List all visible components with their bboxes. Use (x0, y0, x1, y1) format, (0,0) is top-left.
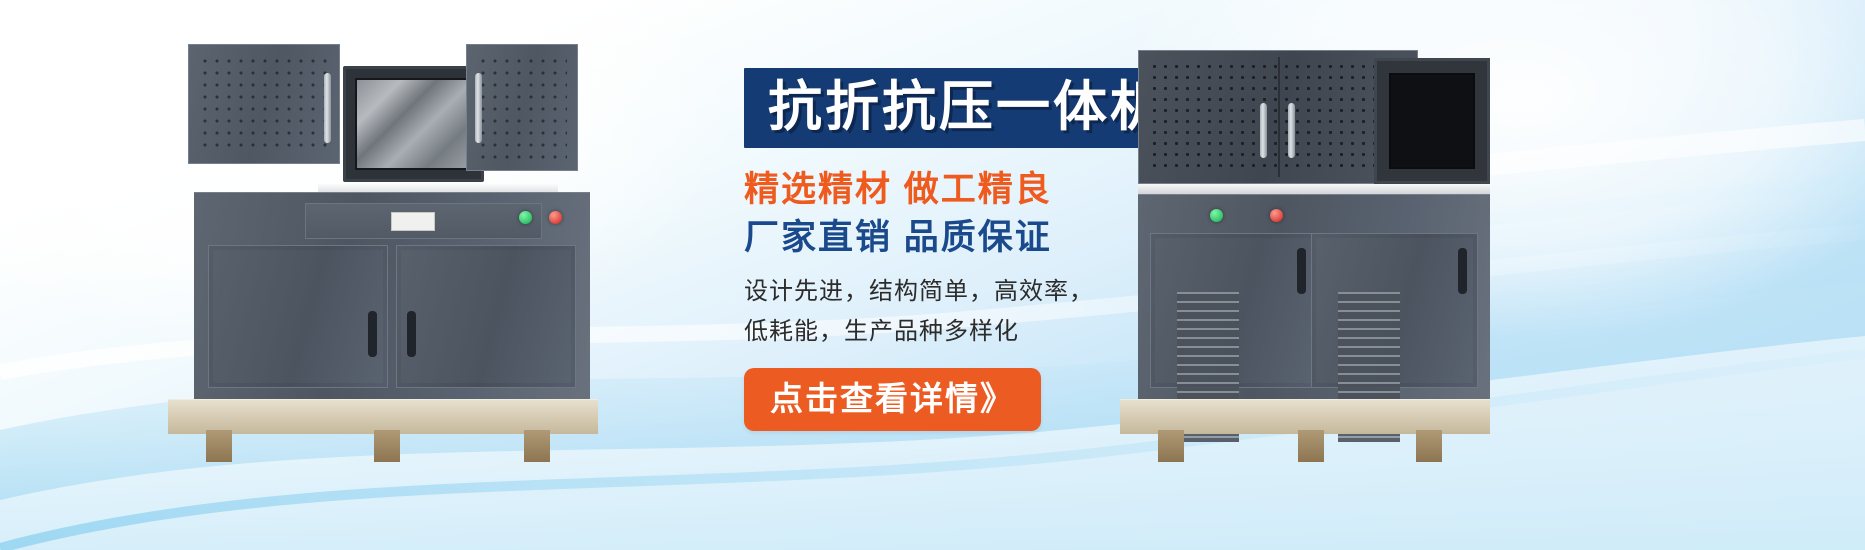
pallet-leg (1298, 430, 1324, 462)
left-perforated-cabinet-door (188, 44, 340, 164)
wooden-pallet (1120, 399, 1490, 434)
door-handle-icon (368, 311, 377, 357)
monitor-screen (355, 78, 472, 170)
right-perforated-cabinet-door (466, 44, 578, 171)
page-title: 抗折抗压一体机 (768, 77, 1167, 137)
cabinet-handle-icon (324, 73, 331, 143)
perforation-pattern (477, 55, 567, 160)
cabinet-handle-icon (475, 73, 482, 143)
view-details-button[interactable]: 点击查看详情》 (744, 368, 1041, 431)
door-handle-icon (1297, 248, 1306, 294)
cabinet-divider (1278, 57, 1280, 177)
pallet-leg (1158, 430, 1184, 462)
door-handle-icon (1458, 248, 1467, 294)
upper-shelf (1138, 184, 1490, 194)
lower-cabinet-door-left (1150, 233, 1317, 388)
cabinet-handle-icon (1288, 103, 1295, 158)
specimen-slot-panel (305, 203, 543, 239)
monitor-screen (1389, 73, 1475, 169)
cabinet-handle-icon (1260, 103, 1267, 158)
machine-body (1138, 194, 1490, 402)
red-indicator-lamp (1270, 209, 1283, 222)
lower-cabinet-door-left (208, 245, 388, 388)
red-indicator-lamp (549, 211, 562, 224)
product-image-right (1120, 44, 1490, 434)
lower-cabinet-door-right (396, 245, 576, 388)
control-monitor (343, 66, 484, 182)
machine-body (194, 192, 590, 402)
perforation-pattern (199, 55, 329, 153)
lower-cabinet-door-right (1311, 233, 1478, 388)
green-indicator-lamp (1210, 209, 1223, 222)
product-image-left (168, 44, 598, 434)
promo-banner: 抗折抗压一体机 精选精材 做工精良 厂家直销 品质保证 设计先进，结构简单，高效… (0, 0, 1865, 550)
panel-label (391, 212, 435, 231)
pallet-leg (374, 430, 400, 462)
control-monitor (1374, 58, 1490, 184)
pallet-leg (1416, 430, 1442, 462)
pallet-leg (524, 430, 550, 462)
pallet-leg (206, 430, 232, 462)
green-indicator-lamp (519, 211, 532, 224)
wooden-pallet (168, 399, 598, 434)
door-handle-icon (407, 311, 416, 357)
